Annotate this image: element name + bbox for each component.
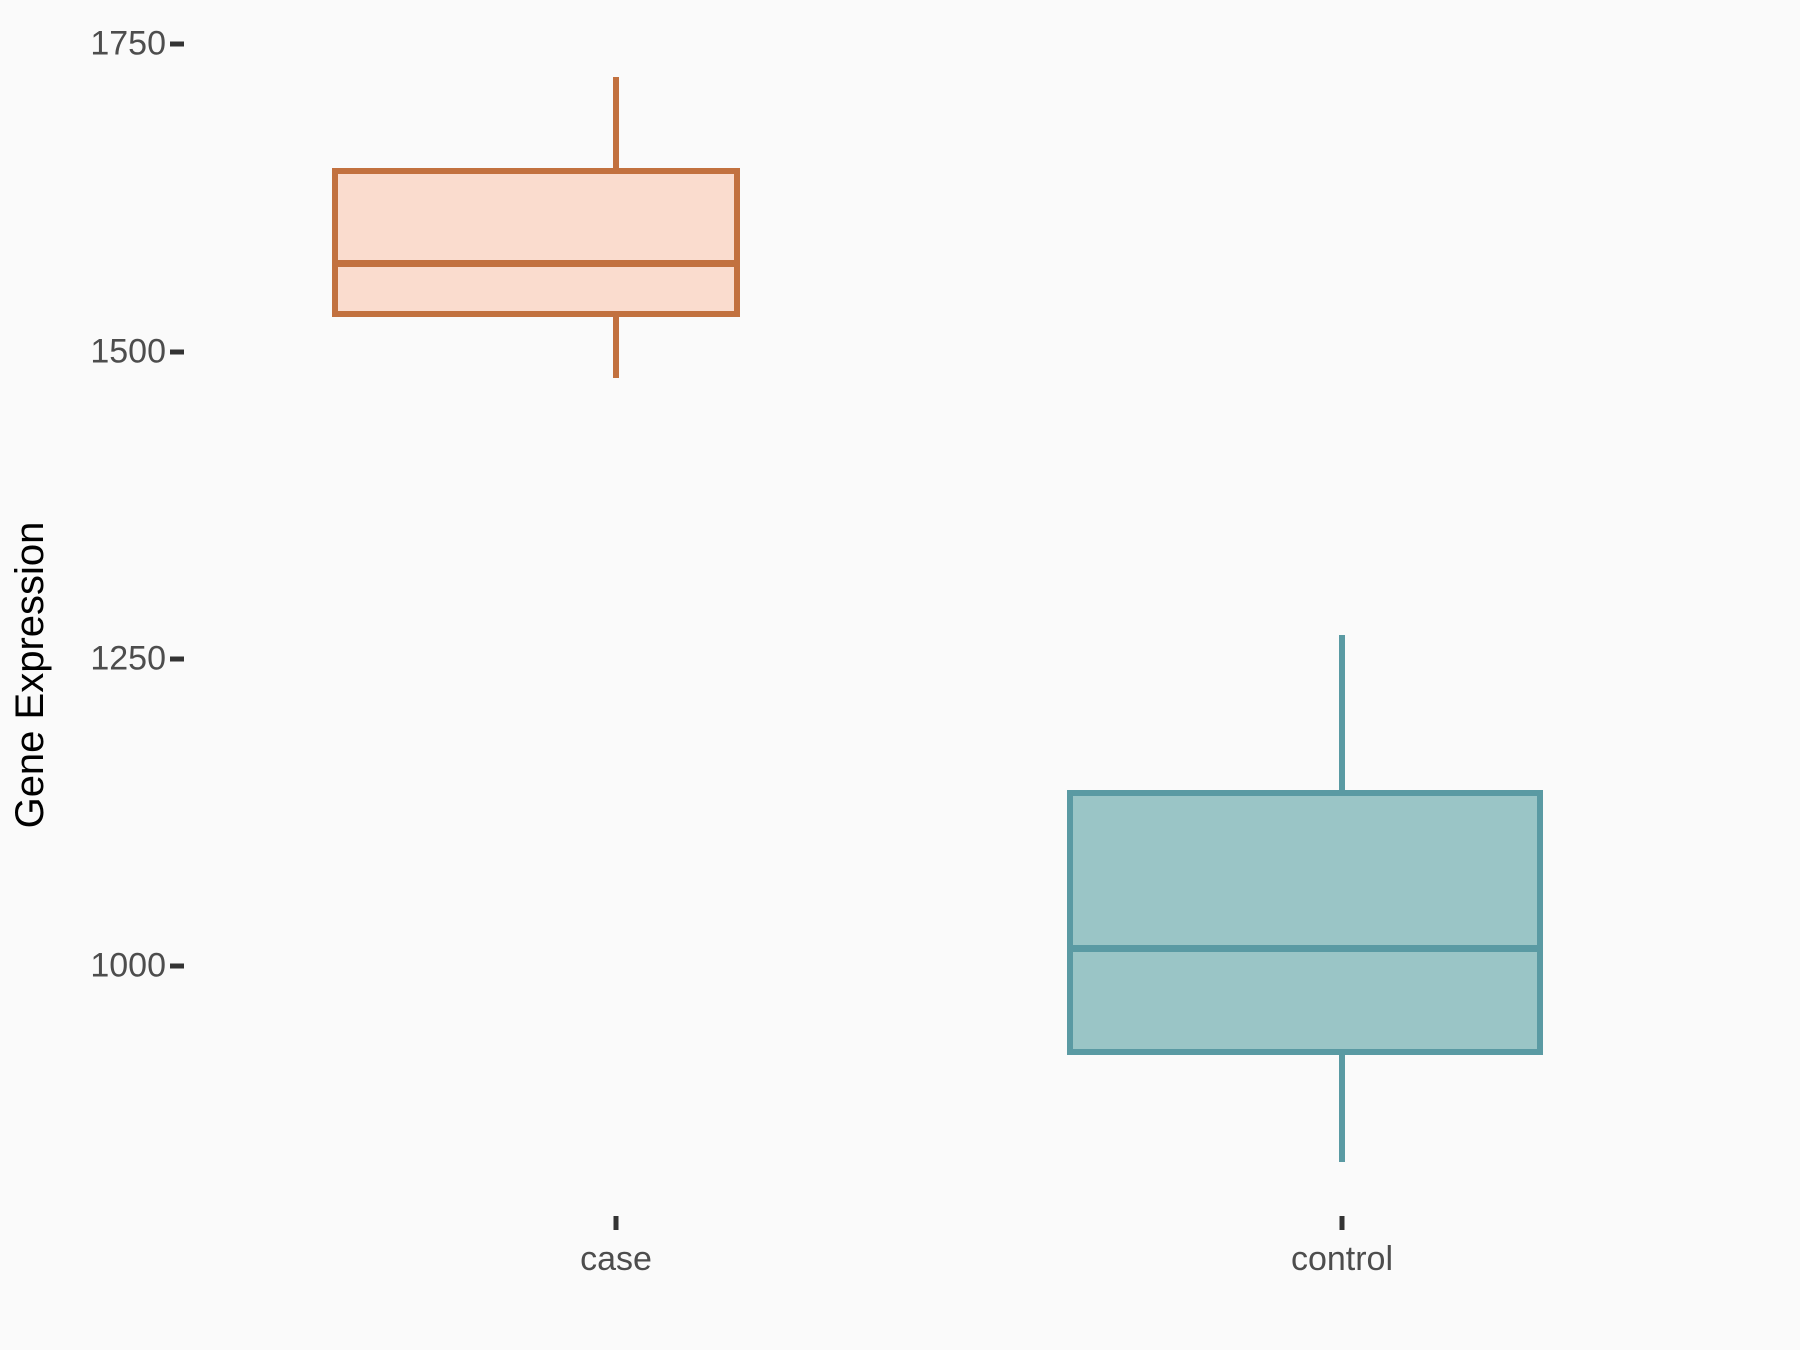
control-whisker-lower bbox=[1339, 1055, 1345, 1162]
y-tick-mark-1500 bbox=[170, 350, 184, 355]
case-whisker-upper bbox=[613, 77, 619, 168]
x-tick-mark-case bbox=[614, 1216, 619, 1230]
y-tick-label-1750: 1750 bbox=[90, 25, 166, 64]
y-tick-mark-1250 bbox=[170, 657, 184, 662]
y-axis-title: Gene Expression bbox=[0, 0, 60, 1350]
case-box bbox=[332, 168, 740, 317]
y-tick-mark-1000 bbox=[170, 964, 184, 969]
y-tick-label-1000: 1000 bbox=[90, 947, 166, 986]
control-median-line bbox=[1067, 945, 1543, 952]
x-tick-mark-control bbox=[1340, 1216, 1345, 1230]
y-tick-mark-1750 bbox=[170, 42, 184, 47]
x-tick-label-control: control bbox=[1291, 1240, 1393, 1279]
control-box bbox=[1067, 790, 1543, 1055]
case-median-line bbox=[332, 260, 740, 267]
y-tick-label-1500: 1500 bbox=[90, 333, 166, 372]
case-whisker-lower bbox=[613, 317, 619, 378]
boxplot-figure: Gene Expression 1750 1500 1250 1000 case… bbox=[0, 0, 1800, 1350]
x-tick-label-case: case bbox=[580, 1240, 652, 1279]
y-tick-label-1250: 1250 bbox=[90, 640, 166, 679]
control-whisker-upper bbox=[1339, 635, 1345, 790]
